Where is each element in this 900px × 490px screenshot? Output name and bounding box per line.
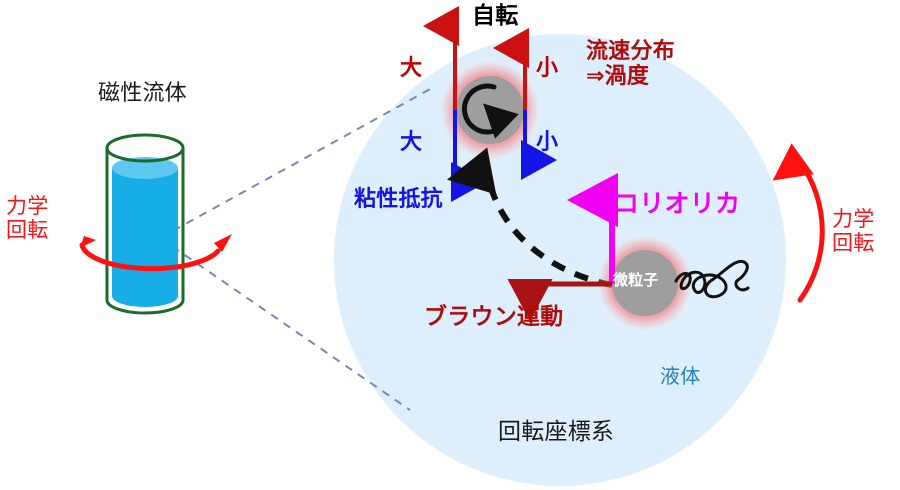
label-coriolis-force: コリオリカ bbox=[614, 190, 740, 218]
mech-rot-left-head-start bbox=[80, 236, 96, 248]
mech-rot-right-arc bbox=[800, 162, 822, 300]
label-flow-velocity-vorticity: 流速分布 ⇒渦度 bbox=[586, 40, 675, 89]
label-mechanical-rotation-left: 力学 回転 bbox=[6, 195, 48, 242]
diagram-graphics-layer bbox=[0, 0, 900, 490]
label-brownian-motion: ブラウン運動 bbox=[424, 305, 563, 331]
mechanical-rotation-arrow-right bbox=[800, 162, 822, 300]
label-magnitude-small-lower: 小 bbox=[536, 131, 558, 156]
label-magnetic-fluid: 磁性流体 bbox=[98, 82, 187, 107]
label-spin: 自転 bbox=[472, 4, 518, 30]
label-mechanical-rotation-right: 力学 回転 bbox=[832, 208, 874, 255]
diagram-canvas: 磁性流体 力学 回転 力学 回転 自転 流速分布 ⇒渦度 大 大 小 小 粘性抵… bbox=[0, 0, 900, 490]
label-rotating-coordinate-system: 回転座標系 bbox=[498, 420, 614, 446]
label-viscous-resistance: 粘性抵抗 bbox=[354, 188, 443, 213]
label-fine-particle: 微粒子 bbox=[613, 272, 658, 289]
label-magnitude-large-lower: 大 bbox=[400, 131, 422, 156]
label-liquid: 液体 bbox=[660, 365, 700, 387]
label-magnitude-small-upper: 小 bbox=[536, 57, 558, 82]
cylinder-fluid-body bbox=[112, 168, 178, 307]
label-magnitude-large-upper: 大 bbox=[400, 57, 422, 82]
magnetic-fluid-cylinder bbox=[107, 135, 183, 313]
